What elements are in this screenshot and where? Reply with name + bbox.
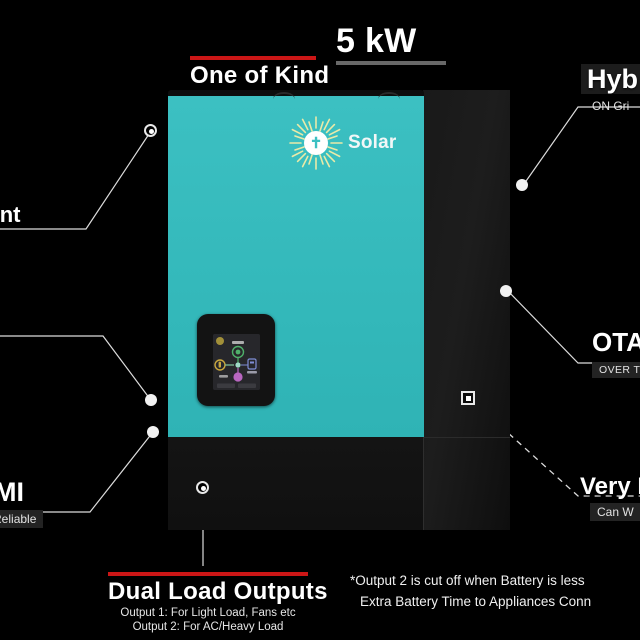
leader-battery-management [0, 134, 149, 229]
logo-glyph: ✝ [310, 136, 323, 151]
callout-marker-hybrid[interactable] [516, 179, 528, 191]
dual-load-sub-2: Output 2: For AC/Heavy Load [108, 620, 308, 634]
inverter-side-seam [423, 437, 510, 438]
callout-title: OTA [592, 329, 640, 356]
inverter-base-seam [423, 437, 424, 530]
leader-hybrid [524, 107, 640, 184]
brand-logo: ✝ Solar [288, 115, 397, 171]
brand-name: Solar [348, 132, 397, 154]
callout-ota[interactable]: OTA OVER TH [592, 329, 640, 378]
callout-marker-battery-management[interactable] [144, 124, 157, 137]
callout-subtitle: Can W [590, 503, 640, 521]
callout-marker-dual-load[interactable] [196, 481, 209, 494]
dual-load-rule [108, 572, 308, 576]
footnote-line-1: *Output 2 is cut off when Battery is les… [350, 572, 585, 590]
headline-power-rating: 5 kW [336, 24, 446, 65]
callout-hmi[interactable]: e HMI rt and Reliable [0, 478, 43, 528]
callout-very-low[interactable]: Very L Can W [580, 474, 640, 521]
callout-title: agement [0, 203, 20, 226]
callout-subtitle: rt and Reliable [0, 510, 43, 528]
inverter-side-panel [423, 90, 510, 530]
callout-marker-wifi[interactable] [145, 394, 157, 406]
lcd-energy-flow-screen[interactable] [213, 334, 260, 390]
headline-one-of-kind: One of Kind [190, 56, 329, 90]
sun-logo-icon: ✝ [288, 115, 344, 171]
sun-core-icon: ✝ [304, 131, 328, 155]
dual-load-text: Dual Load Outputs [108, 578, 308, 606]
callout-battery-management[interactable]: agement ery Levels [0, 203, 20, 248]
lcd-display-bezel[interactable] [197, 314, 275, 406]
power-rating-rule [336, 61, 446, 65]
footnote-line-2: Extra Battery Time to Appliances Conn [360, 593, 591, 611]
callout-title: Hyb [581, 64, 640, 94]
headline-dual-load-outputs: Dual Load Outputs Output 1: For Light Lo… [108, 572, 308, 635]
callout-marker-hmi[interactable] [147, 426, 159, 438]
infographic-canvas: ✝ Solar [0, 0, 640, 640]
inverter-device: ✝ Solar [168, 90, 510, 530]
leader-wifi [0, 336, 150, 399]
mount-hook-icon [273, 92, 295, 99]
dual-load-sub-1: Output 1: For Light Load, Fans etc [108, 606, 308, 620]
power-rating-text: 5 kW [336, 24, 446, 58]
one-of-kind-text: One of Kind [190, 62, 329, 90]
callout-marker-ota[interactable] [500, 285, 512, 297]
mount-hook-icon [378, 92, 400, 99]
callout-hybrid[interactable]: Hyb ON Gri [581, 64, 640, 115]
callout-subtitle: OVER TH [592, 362, 640, 378]
callout-title: Very L [580, 474, 640, 499]
callout-title: e HMI [0, 478, 43, 506]
callout-marker-very-low[interactable] [461, 391, 475, 405]
callout-subtitle: ON Gri [585, 97, 636, 115]
one-of-kind-rule [190, 56, 316, 60]
